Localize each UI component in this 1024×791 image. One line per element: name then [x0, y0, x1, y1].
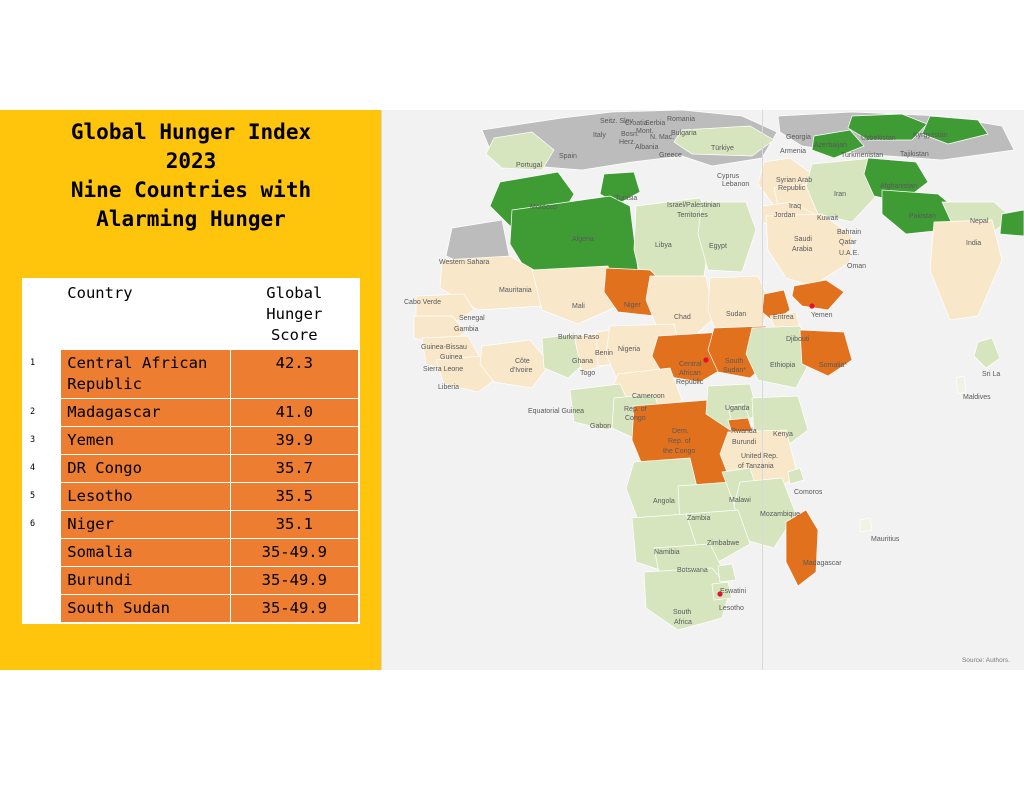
map-label: Bulgaria: [671, 130, 697, 137]
row-country: Burundi: [61, 567, 230, 595]
map-label: Kyrgyzstan: [913, 132, 948, 139]
map-label: Saudi: [794, 236, 812, 243]
map-label: Africa: [674, 619, 692, 626]
table-row: 1Central African Republic42.3: [24, 350, 359, 399]
row-score: 35-49.9: [230, 567, 358, 595]
map-label: Nigeria: [618, 346, 640, 353]
map-label: Pakistan: [909, 213, 936, 220]
map-label: Cameroon: [632, 393, 665, 400]
map-label: of Tanzania: [738, 463, 774, 470]
row-rank: [24, 539, 61, 567]
map-label: Zimbabwe: [707, 540, 739, 547]
map-label: Burundi: [732, 439, 756, 446]
map-label: Comoros: [794, 489, 822, 496]
map-label: Congo: [625, 415, 646, 422]
row-country: DR Congo: [61, 455, 230, 483]
row-score: 35-49.9: [230, 595, 358, 623]
map-label: Eritrea: [773, 314, 794, 321]
map-label: Eswatini: [720, 588, 746, 595]
table-header-row: Country Global Hunger Score: [24, 280, 359, 350]
map-label: Liberia: [438, 384, 459, 391]
map-label: Lebanon: [722, 181, 749, 188]
title-line-2: 2023: [0, 147, 382, 176]
map-label: Republic: [778, 185, 805, 192]
table-header: Country Global Hunger Score: [24, 280, 359, 350]
map-label: Burkina Faso: [558, 334, 599, 341]
header-score: Global Hunger Score: [230, 280, 358, 350]
table-row: 5Lesotho35.5: [24, 483, 359, 511]
row-rank: 5: [24, 483, 61, 511]
map-label: Dem.: [672, 428, 689, 435]
row-country: Somalia: [61, 539, 230, 567]
row-score: 42.3: [230, 350, 358, 399]
slide: .g0{fill:#eef3e3;stroke:#ffffff;stroke-w…: [0, 0, 1024, 791]
map-label: Malawi: [729, 497, 751, 504]
header-score-line-2: Hunger: [266, 305, 322, 323]
table-row: Burundi35-49.9: [24, 567, 359, 595]
page-title: Global Hunger Index 2023 Nine Countries …: [0, 118, 382, 234]
map-label: Zambia: [687, 515, 710, 522]
world-map: .g0{fill:#eef3e3;stroke:#ffffff;stroke-w…: [382, 110, 1024, 670]
map-label: Rep. of: [668, 438, 691, 445]
table-body: 1Central African Republic42.32Madagascar…: [24, 350, 359, 623]
map-label: Mauritania: [499, 287, 532, 294]
map-label: Niger: [624, 302, 641, 309]
map-label: Guinea-Bissau: [421, 344, 467, 351]
map-label: Morocco: [530, 204, 557, 211]
map-label: Botswana: [677, 567, 708, 574]
row-rank: [24, 595, 61, 623]
map-label: Portugal: [516, 162, 542, 169]
map-label: Uganda: [725, 405, 750, 412]
row-country: South Sudan: [61, 595, 230, 623]
map-label: Sudan: [726, 311, 746, 318]
row-rank: [24, 567, 61, 595]
table-row: South Sudan35-49.9: [24, 595, 359, 623]
map-label: Somalia*: [819, 362, 847, 369]
map-label: Senegal: [459, 315, 485, 322]
row-country: Madagascar: [61, 399, 230, 427]
row-country: Yemen: [61, 427, 230, 455]
header-rank-cell: [24, 280, 61, 350]
map-label: Togo: [580, 370, 595, 377]
table-row: 4DR Congo35.7: [24, 455, 359, 483]
map-label: Sierra Leone: [423, 366, 463, 373]
map-label: Türkiye: [711, 145, 734, 152]
row-rank: 4: [24, 455, 61, 483]
map-label: Madagascar: [803, 560, 842, 567]
map-label: Albania: [635, 144, 658, 151]
map-label: Tunisia: [615, 195, 637, 202]
title-line-3: Nine Countries with: [0, 176, 382, 205]
map-label: Iraq: [789, 203, 801, 210]
map-label: Guinea: [440, 354, 463, 361]
row-score: 35-49.9: [230, 539, 358, 567]
hunger-table: Country Global Hunger Score 1Central Afr…: [22, 278, 360, 624]
map-label: Maldives: [963, 394, 991, 401]
map-label: South: [725, 358, 743, 365]
map-label: Gambia: [454, 326, 479, 333]
row-country: Central African Republic: [61, 350, 230, 399]
map-source-label: Source: Authors.: [962, 657, 1010, 664]
map-label: Kuwait: [817, 215, 838, 222]
map-label: Cabo Verde: [404, 299, 441, 306]
map-label: Angola: [653, 498, 675, 505]
map-label: Mozambique: [760, 511, 800, 518]
row-rank: 6: [24, 511, 61, 539]
row-rank: 1: [24, 350, 61, 399]
map-label: Greece: [659, 152, 682, 159]
map-label: Sudan*: [723, 367, 746, 374]
map-label: Bahrain: [837, 229, 861, 236]
map-label: African: [679, 370, 701, 377]
row-country: Lesotho: [61, 483, 230, 511]
map-label: Libya: [655, 242, 672, 249]
row-score: 35.5: [230, 483, 358, 511]
table-row: 6Niger35.1: [24, 511, 359, 539]
map-label: Rwanda: [731, 428, 757, 435]
map-label: d'Ivoire: [510, 367, 532, 374]
title-line-4: Alarming Hunger: [0, 205, 382, 234]
row-rank: 3: [24, 427, 61, 455]
map-label: Rep. of: [624, 406, 647, 413]
map-label: Western Sahara: [439, 259, 489, 266]
map-label: Turkmenistan: [841, 152, 883, 159]
map-label: Italy: [593, 132, 606, 139]
row-score: 39.9: [230, 427, 358, 455]
map-label: Sri La: [982, 371, 1000, 378]
map-label: Mauritius: [871, 536, 899, 543]
header-country: Country: [61, 280, 230, 350]
map-label: Serbia: [645, 120, 665, 127]
map-label: Egypt: [709, 243, 727, 250]
row-country: Niger: [61, 511, 230, 539]
map-label: Cyprus: [717, 173, 739, 180]
row-rank: 2: [24, 399, 61, 427]
map-label: Benin: [595, 350, 613, 357]
map-label: the Congo: [663, 448, 695, 455]
map-label: Chad: [674, 314, 691, 321]
map-label: Central: [679, 361, 702, 368]
map-divider: [381, 110, 382, 670]
map-label: Gabon: [590, 423, 611, 430]
map-label: Uzbekistan: [861, 135, 896, 142]
map-label: Romania: [667, 116, 695, 123]
map-label: Spain: [559, 153, 577, 160]
map-label: Equatorial Guinea: [528, 408, 584, 415]
map-label: Armenia: [780, 148, 806, 155]
map-label: Herz.: [619, 139, 636, 146]
map-label: South: [673, 609, 691, 616]
map-label: Arabia: [792, 246, 812, 253]
map-label: Ghana: [572, 358, 593, 365]
header-score-line-1: Global: [266, 284, 322, 302]
table-row: 2Madagascar41.0: [24, 399, 359, 427]
map-label: Ethiopia: [770, 362, 795, 369]
table-row: 3Yemen39.9: [24, 427, 359, 455]
map-label: Afghanistan: [880, 183, 917, 190]
map-label: Azerbaijan: [814, 142, 847, 149]
title-line-1: Global Hunger Index: [0, 118, 382, 147]
row-score: 35.7: [230, 455, 358, 483]
map-label: Côte: [515, 358, 530, 365]
map-label: Algeria: [572, 236, 594, 243]
map-label: Republic: [676, 379, 703, 386]
map-label: India: [966, 240, 981, 247]
map-label: Namibia: [654, 549, 680, 556]
map-label: Nepal: [970, 218, 988, 225]
map-label: Syrian Arab: [776, 177, 812, 184]
map-label: Oman: [847, 263, 866, 270]
map-label: Tajikistan: [900, 151, 929, 158]
map-label: Israel/Palestinian: [667, 202, 720, 209]
map-label: Lesotho: [719, 605, 744, 612]
map-label: Qatar: [839, 239, 857, 246]
map-label: Jordan: [774, 212, 795, 219]
map-label: Kenya: [773, 431, 793, 438]
map-label: U.A.E.: [839, 250, 859, 257]
map-label: Georgia: [786, 134, 811, 141]
row-score: 41.0: [230, 399, 358, 427]
row-score: 35.1: [230, 511, 358, 539]
header-score-line-3: Score: [271, 326, 318, 344]
map-label: Mali: [572, 303, 585, 310]
map-label: Djibouti: [786, 336, 809, 343]
map-label: United Rep.: [741, 453, 778, 460]
map-label: Yemen: [811, 312, 833, 319]
map-label: Territories: [677, 212, 708, 219]
map-svg: .g0{fill:#eef3e3;stroke:#ffffff;stroke-w…: [382, 110, 1024, 670]
table-row: Somalia35-49.9: [24, 539, 359, 567]
map-label: Iran: [834, 191, 846, 198]
